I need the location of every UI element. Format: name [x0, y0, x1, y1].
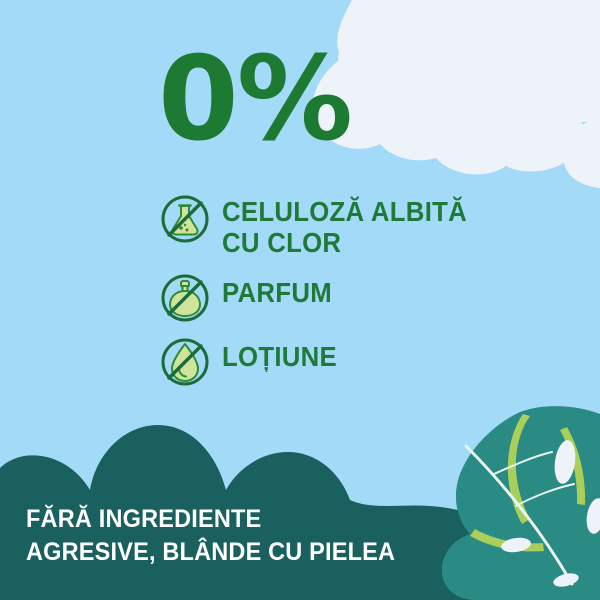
claim-item: PARFUM [160, 273, 488, 323]
bubble-dot-small-icon [459, 105, 475, 121]
claim-item: CELULOZĂ ALBITĂ CU CLOR [160, 192, 488, 259]
claims-list: CELULOZĂ ALBITĂ CU CLOR PARFUM LOȚIUNE [160, 192, 488, 401]
headline-percent: 0% [158, 42, 351, 158]
claim-label: PARFUM [222, 273, 332, 308]
claim-label: CELULOZĂ ALBITĂ CU CLOR [222, 192, 467, 259]
footer-claim-text: FĂRĂ INGREDIENTE AGRESIVE, BLÂNDE CU PIE… [26, 503, 395, 568]
claim-label: LOȚIUNE [222, 337, 337, 372]
claim-item: LOȚIUNE [160, 337, 488, 387]
promo-poster: 0% CELULOZĂ ALBITĂ CU CLOR [0, 0, 600, 600]
no-perfume-bottle-icon [160, 273, 210, 323]
no-chlorine-flask-icon [160, 194, 210, 244]
no-lotion-droplet-icon [160, 337, 210, 387]
